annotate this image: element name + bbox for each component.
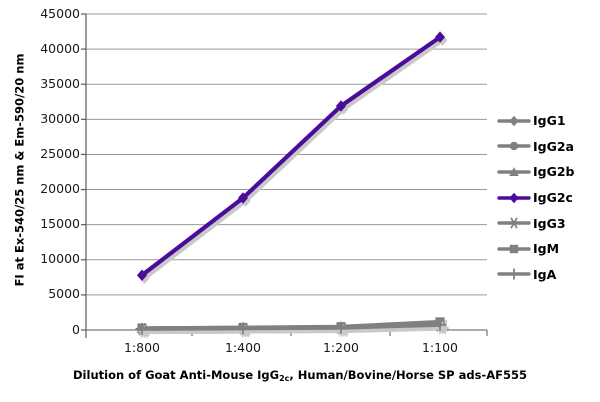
x-tick-label: 1:400 (203, 342, 283, 355)
legend-item-igg2a[interactable]: IgG2a (497, 134, 600, 160)
x-tick-label: 1:100 (400, 342, 480, 355)
data-point-marker (510, 142, 518, 150)
legend-item-igg2c[interactable]: IgG2c (497, 185, 600, 211)
legend-marker-diamond-icon (497, 187, 531, 209)
diamond-marker (509, 116, 518, 127)
legend-marker-diamond-icon (497, 110, 531, 132)
x-tick-label: 1:200 (301, 342, 381, 355)
x-axis-title-before: Dilution of Goat Anti-Mouse IgG (73, 368, 279, 382)
legend-marker-triangle-icon (497, 161, 531, 183)
legend: IgG1IgG2aIgG2bIgG2cIgG3IgMIgA (497, 108, 600, 287)
x-axis-title-after: , Human/Bovine/Horse SP ads-AF555 (289, 368, 527, 382)
legend-label: IgG2a (531, 139, 574, 154)
data-point-marker (509, 269, 520, 280)
legend-label: IgG1 (531, 113, 566, 128)
legend-marker-star-icon (497, 212, 531, 234)
x-tick-label: 1:800 (102, 342, 182, 355)
legend-item-iga[interactable]: IgA (497, 262, 600, 288)
series-iga (136, 319, 448, 338)
data-point-marker (508, 218, 520, 228)
legend-label: IgG2c (531, 190, 573, 205)
data-point-marker (510, 245, 518, 253)
legend-label: IgM (531, 241, 559, 256)
legend-label: IgG3 (531, 216, 566, 231)
legend-label: IgA (531, 267, 556, 282)
legend-item-igg1[interactable]: IgG1 (497, 108, 600, 134)
x-axis-title-subscript: 2c (279, 374, 289, 383)
legend-label: IgG2b (531, 164, 575, 179)
series-igg2c (137, 31, 448, 284)
legend-item-igg2b[interactable]: IgG2b (497, 159, 600, 185)
x-axis-title: Dilution of Goat Anti-Mouse IgG2c, Human… (0, 368, 600, 382)
star-marker (508, 218, 520, 228)
data-point-marker (509, 192, 518, 203)
series-line-shadow (145, 40, 443, 278)
chart-container: FI at Ex-540/25 nm & Em-590/20 nm 050001… (0, 0, 600, 402)
legend-item-igg3[interactable]: IgG3 (497, 210, 600, 236)
legend-marker-square-icon (497, 238, 531, 260)
data-point-marker (509, 116, 518, 127)
legend-marker-circle-icon (497, 135, 531, 157)
diamond-marker (509, 192, 518, 203)
circle-marker (510, 142, 518, 150)
legend-item-igm[interactable]: IgM (497, 236, 600, 262)
legend-marker-plus-icon (497, 263, 531, 285)
plus-marker (509, 269, 520, 280)
square-marker (510, 245, 518, 253)
